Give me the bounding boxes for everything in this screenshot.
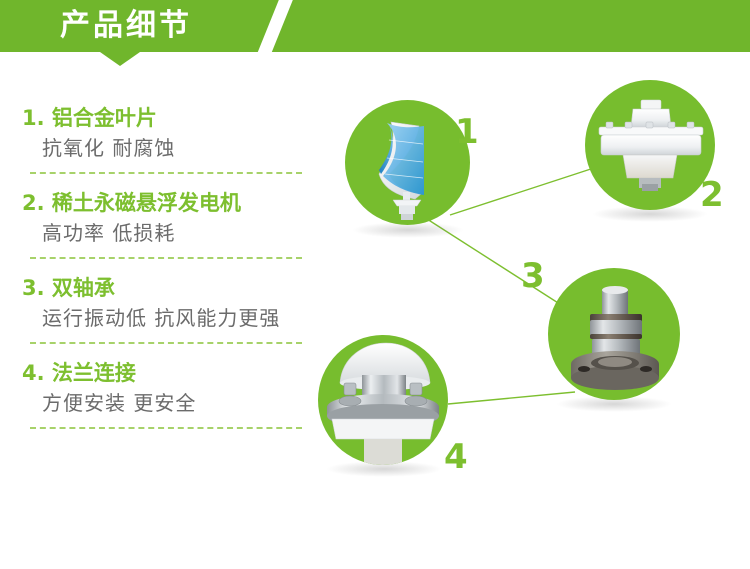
callout-photo-3[interactable] <box>548 268 680 400</box>
callout-photo-4[interactable] <box>318 335 448 465</box>
callout-number-1: 1 <box>455 115 479 149</box>
generator-housing-icon <box>585 80 715 210</box>
callout-photo-1[interactable] <box>345 100 470 225</box>
flange-connection-icon <box>318 335 448 465</box>
callout-number-3: 3 <box>521 259 545 293</box>
product-detail-page: 产品细节 1. 铝合金叶片 抗氧化 耐腐蚀 2. 稀土永磁悬浮发电机 高功率 低… <box>0 0 750 569</box>
vertical-axis-wind-turbine-icon <box>345 100 470 225</box>
double-bearing-icon <box>548 268 680 400</box>
callout-number-4: 4 <box>444 440 468 474</box>
callout-number-2: 2 <box>700 178 724 212</box>
callout-photo-2[interactable] <box>585 80 715 210</box>
